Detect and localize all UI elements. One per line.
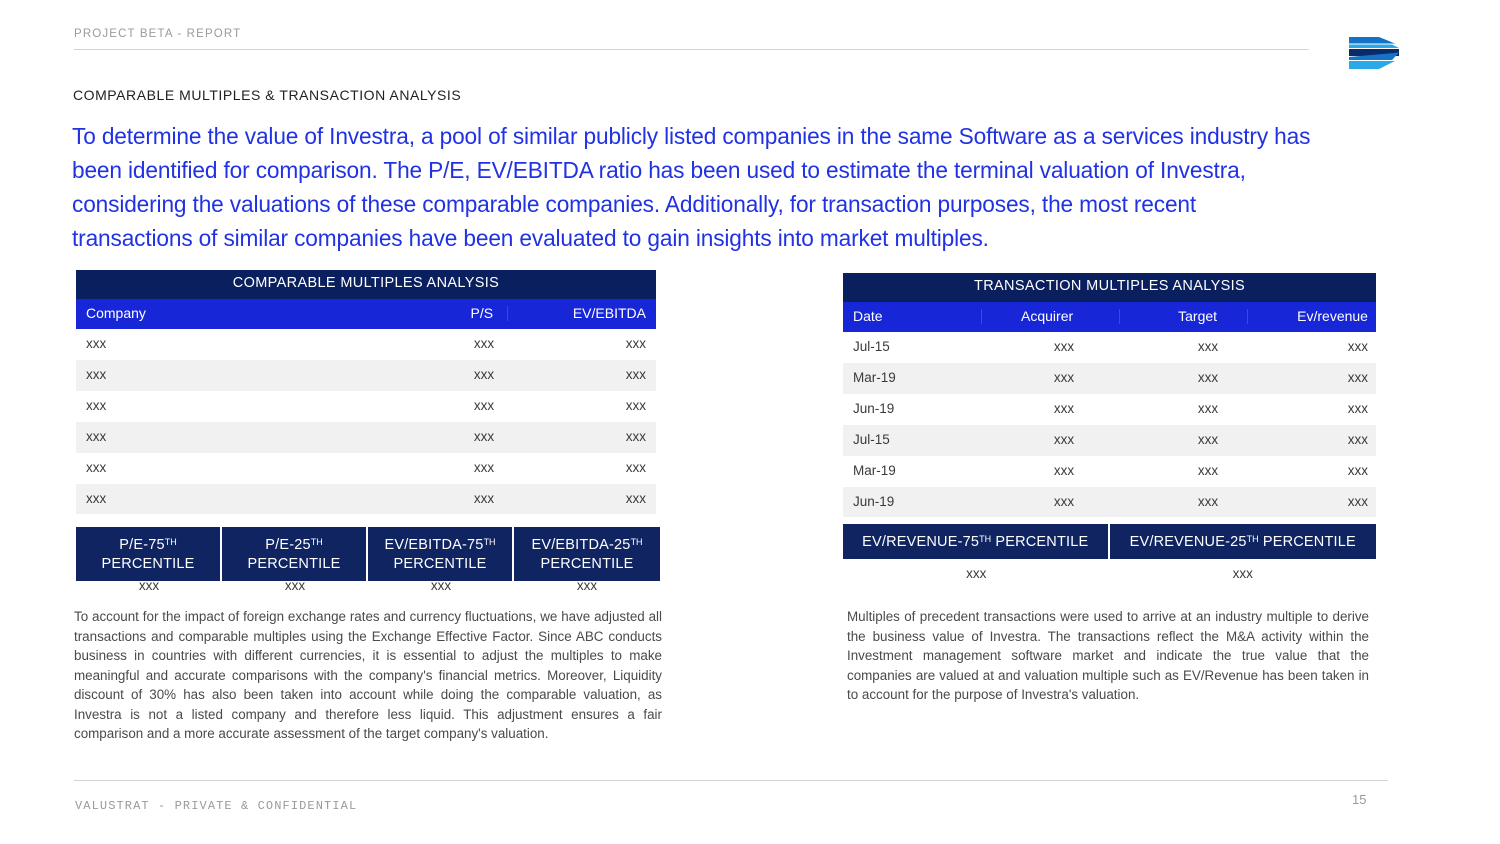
cell-ps: xxx — [343, 368, 508, 383]
cell-date: Jul-15 — [843, 340, 982, 355]
page-number: 15 — [1352, 792, 1366, 807]
valustrat-chevron-logo — [1345, 33, 1401, 75]
cell-target: xxx — [1120, 495, 1248, 510]
cell-evebitda: xxx — [508, 337, 656, 352]
cell-evebitda: xxx — [508, 399, 656, 414]
table-row: Jun-19xxxxxxxxx — [843, 487, 1376, 518]
transaction-percentile-boxes: EV/REVENUE-75TH PERCENTILEEV/REVENUE-25T… — [843, 524, 1376, 559]
page-title: COMPARABLE MULTIPLES & TRANSACTION ANALY… — [73, 87, 461, 103]
footer-label: VALUSTRAT - PRIVATE & CONFIDENTIAL — [75, 799, 357, 813]
column-header-evrevenue: Ev/revenue — [1248, 309, 1376, 324]
percentile-box: EV/REVENUE-75TH PERCENTILE — [843, 524, 1110, 559]
table-body: Jul-15xxxxxxxxxMar-19xxxxxxxxxJun-19xxxx… — [843, 332, 1376, 517]
column-header-ps: P/S — [343, 306, 508, 321]
cell-company: xxx — [76, 368, 343, 383]
percentile-box: P/E-75THPERCENTILE — [76, 527, 222, 581]
cell-evrevenue: xxx — [1248, 433, 1376, 448]
document-header-label: PROJECT BETA - REPORT — [74, 28, 1309, 40]
cell-evrevenue: xxx — [1248, 464, 1376, 479]
cell-date: Jun-19 — [843, 402, 982, 417]
table-row: xxxxxxxxx — [76, 484, 656, 515]
cell-acquirer: xxx — [982, 495, 1121, 510]
column-header-evebitda: EV/EBITDA — [508, 306, 656, 321]
table-body: xxxxxxxxxxxxxxxxxxxxxxxxxxxxxxxxxxxxxxxx… — [76, 329, 656, 514]
cell-target: xxx — [1120, 464, 1248, 479]
cell-evebitda: xxx — [508, 461, 656, 476]
cell-acquirer: xxx — [982, 371, 1121, 386]
cell-ps: xxx — [343, 430, 508, 445]
right-body-paragraph: Multiples of precedent transactions were… — [847, 607, 1369, 705]
cell-ps: xxx — [343, 461, 508, 476]
column-header-acquirer: Acquirer — [982, 309, 1121, 324]
table-row: Mar-19xxxxxxxxx — [843, 363, 1376, 394]
table-row: Mar-19xxxxxxxxx — [843, 456, 1376, 487]
cell-company: xxx — [76, 492, 343, 507]
cell-evrevenue: xxx — [1248, 371, 1376, 386]
percentile-box: P/E-25THPERCENTILE — [222, 527, 368, 581]
table-header-row: Date Acquirer Target Ev/revenue — [843, 302, 1376, 332]
cell-target: xxx — [1120, 433, 1248, 448]
percentile-box: EV/EBITDA-75THPERCENTILE — [368, 527, 514, 581]
cell-company: xxx — [76, 461, 343, 476]
cell-company: xxx — [76, 337, 343, 352]
table-row: xxxxxxxxx — [76, 329, 656, 360]
header-divider — [74, 49, 1309, 50]
column-header-date: Date — [843, 309, 982, 324]
comparable-percentile-boxes: P/E-75THPERCENTILEP/E-25THPERCENTILEEV/E… — [76, 527, 660, 581]
table-row: xxxxxxxxx — [76, 453, 656, 484]
percentile-value: xxx — [368, 578, 514, 593]
cell-ps: xxx — [343, 492, 508, 507]
document-header: PROJECT BETA - REPORT — [74, 28, 1309, 50]
table-header-row: Company P/S EV/EBITDA — [76, 299, 656, 329]
cell-acquirer: xxx — [982, 433, 1121, 448]
cell-acquirer: xxx — [982, 464, 1121, 479]
percentile-value: xxx — [222, 578, 368, 593]
transaction-percentile-values: xxxxxx — [843, 566, 1376, 581]
cell-evebitda: xxx — [508, 492, 656, 507]
cell-company: xxx — [76, 430, 343, 445]
percentile-box: EV/EBITDA-25THPERCENTILE — [514, 527, 660, 581]
cell-evrevenue: xxx — [1248, 340, 1376, 355]
table-row: Jun-19xxxxxxxxx — [843, 394, 1376, 425]
comparable-multiples-table: COMPARABLE MULTIPLES ANALYSIS Company P/… — [76, 270, 656, 514]
cell-ps: xxx — [343, 337, 508, 352]
cell-date: Mar-19 — [843, 464, 982, 479]
percentile-value: xxx — [76, 578, 222, 593]
cell-date: Jun-19 — [843, 495, 982, 510]
cell-date: Mar-19 — [843, 371, 982, 386]
cell-ps: xxx — [343, 399, 508, 414]
comparable-percentile-values: xxxxxxxxxxxx — [76, 578, 660, 593]
table-title: COMPARABLE MULTIPLES ANALYSIS — [76, 270, 656, 299]
cell-target: xxx — [1120, 340, 1248, 355]
percentile-value: xxx — [1110, 566, 1377, 581]
cell-date: Jul-15 — [843, 433, 982, 448]
table-row: Jul-15xxxxxxxxx — [843, 425, 1376, 456]
column-header-target: Target — [1120, 309, 1248, 324]
left-body-paragraph: To account for the impact of foreign exc… — [74, 607, 662, 744]
table-title: TRANSACTION MULTIPLES ANALYSIS — [843, 273, 1376, 302]
cell-company: xxx — [76, 399, 343, 414]
cell-target: xxx — [1120, 402, 1248, 417]
cell-target: xxx — [1120, 371, 1248, 386]
column-header-company: Company — [76, 306, 343, 321]
cell-acquirer: xxx — [982, 402, 1121, 417]
cell-evrevenue: xxx — [1248, 495, 1376, 510]
table-row: Jul-15xxxxxxxxx — [843, 332, 1376, 363]
cell-evebitda: xxx — [508, 368, 656, 383]
percentile-value: xxx — [843, 566, 1110, 581]
cell-evebitda: xxx — [508, 430, 656, 445]
table-row: xxxxxxxxx — [76, 360, 656, 391]
cell-evrevenue: xxx — [1248, 402, 1376, 417]
percentile-value: xxx — [514, 578, 660, 593]
percentile-box: EV/REVENUE-25TH PERCENTILE — [1110, 524, 1377, 559]
transaction-multiples-table: TRANSACTION MULTIPLES ANALYSIS Date Acqu… — [843, 273, 1376, 517]
report-slide: PROJECT BETA - REPORT COMPARABLE MULTIPL… — [0, 0, 1500, 844]
table-row: xxxxxxxxx — [76, 391, 656, 422]
footer-divider — [74, 780, 1388, 781]
cell-acquirer: xxx — [982, 340, 1121, 355]
intro-paragraph: To determine the value of Investra, a po… — [72, 119, 1322, 255]
table-row: xxxxxxxxx — [76, 422, 656, 453]
